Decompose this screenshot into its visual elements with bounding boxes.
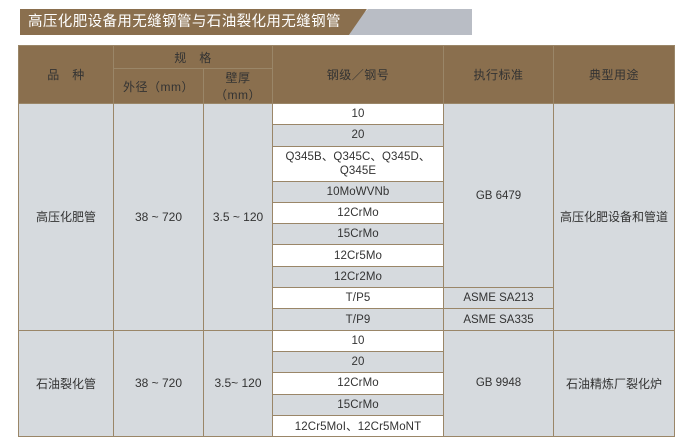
cell-steel-grade: 10MoWVNb: [273, 181, 444, 202]
cell-steel-grade: 15CrMo: [273, 224, 444, 245]
cell-steel-grade: 12Cr5Mo: [273, 245, 444, 266]
spec-table: 品 种 规 格 钢级／钢号 执行标准 典型用途 外径（mm） 壁厚（mm） 高压…: [18, 45, 675, 437]
header-variety: 品 种: [19, 46, 114, 104]
cell-steel-grade: 20: [273, 125, 444, 146]
cell-steel-grade: 12Cr2Mo: [273, 266, 444, 287]
cell-variety: 高压化肥管: [19, 104, 114, 331]
cell-steel-grade: 10: [273, 330, 444, 351]
cell-steel-grade: 12CrMo: [273, 373, 444, 394]
table-body: 高压化肥管38 ~ 7203.5 ~ 12010GB 6479高压化肥设备和管道…: [19, 104, 675, 437]
cell-wall-thickness: 3.5~ 120: [204, 330, 273, 436]
table-head: 品 种 规 格 钢级／钢号 执行标准 典型用途 外径（mm） 壁厚（mm）: [19, 46, 675, 104]
cell-standard: GB 9948: [444, 330, 554, 436]
cell-outer-diameter: 38 ~ 720: [114, 330, 204, 436]
cell-outer-diameter: 38 ~ 720: [114, 104, 204, 331]
cell-standard: ASME SA213: [444, 288, 554, 309]
cell-steel-grade: 20: [273, 351, 444, 372]
cell-steel-grade: T/P5: [273, 288, 444, 309]
banner-bar: 高压化肥设备用无缝钢管与石油裂化用无缝钢管: [20, 9, 367, 35]
cell-steel-grade: T/P9: [273, 309, 444, 330]
cell-typical-use: 石油精炼厂裂化炉: [554, 330, 675, 436]
cell-steel-grade: 15CrMo: [273, 394, 444, 415]
table-row: 石油裂化管38 ~ 7203.5~ 12010GB 9948石油精炼厂裂化炉: [19, 330, 675, 351]
cell-variety: 石油裂化管: [19, 330, 114, 436]
header-row-top: 品 种 规 格 钢级／钢号 执行标准 典型用途: [19, 46, 675, 69]
page-title: 高压化肥设备用无缝钢管与石油裂化用无缝钢管: [28, 9, 341, 35]
cell-steel-grade: 12Cr5MoI、12Cr5MoNT: [273, 415, 444, 436]
header-wall-thickness: 壁厚（mm）: [204, 69, 273, 104]
header-spec-group: 规 格: [114, 46, 273, 69]
spec-table-container: 品 种 规 格 钢级／钢号 执行标准 典型用途 外径（mm） 壁厚（mm） 高压…: [18, 45, 674, 437]
header-typical-use: 典型用途: [554, 46, 675, 104]
cell-steel-grade: 10: [273, 104, 444, 125]
title-banner: 高压化肥设备用无缝钢管与石油裂化用无缝钢管: [0, 9, 692, 35]
cell-typical-use: 高压化肥设备和管道: [554, 104, 675, 331]
header-steel-grade: 钢级／钢号: [273, 46, 444, 104]
table-row: 高压化肥管38 ~ 7203.5 ~ 12010GB 6479高压化肥设备和管道: [19, 104, 675, 125]
header-standard: 执行标准: [444, 46, 554, 104]
header-outer-diameter: 外径（mm）: [114, 69, 204, 104]
cell-wall-thickness: 3.5 ~ 120: [204, 104, 273, 331]
cell-steel-grade: Q345B、Q345C、Q345D、Q345E: [273, 146, 444, 181]
cell-standard: GB 6479: [444, 104, 554, 288]
cell-standard: ASME SA335: [444, 309, 554, 330]
cell-steel-grade: 12CrMo: [273, 202, 444, 223]
